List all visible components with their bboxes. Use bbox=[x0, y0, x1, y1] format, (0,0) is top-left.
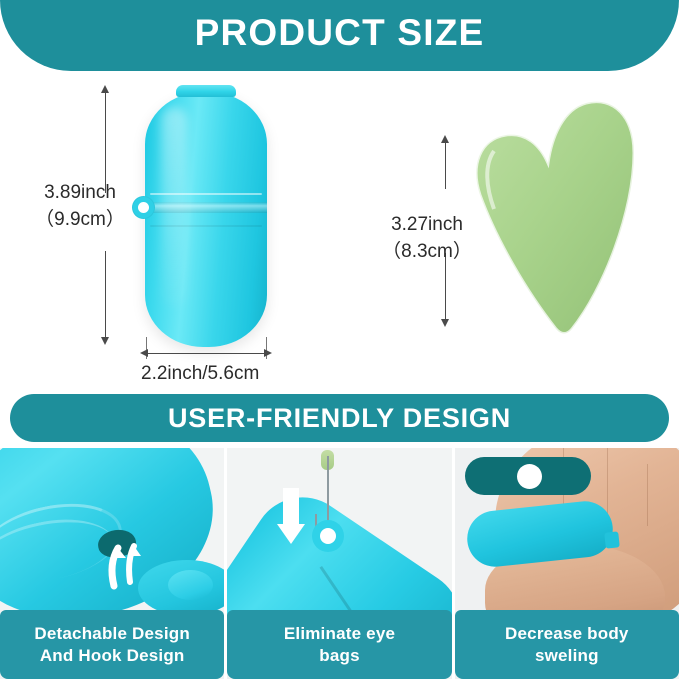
container-height-cm: （9.9cm） bbox=[24, 206, 136, 233]
feature-panel-eye-bags: Eliminate eye bags bbox=[227, 448, 451, 679]
container-height-line-upper bbox=[105, 93, 106, 193]
feature-panels: Detachable Design And Hook Design Elimin… bbox=[0, 448, 679, 679]
gua-sha-shape bbox=[468, 91, 643, 336]
detachable-lid-photo bbox=[0, 448, 224, 623]
container-height-arrow-bottom bbox=[101, 337, 109, 345]
stone-height-inch: 3.27inch bbox=[372, 211, 482, 238]
case-side-tab bbox=[604, 531, 620, 548]
feature-caption-detachable: Detachable Design And Hook Design bbox=[0, 610, 224, 679]
cyan-capsule-container-image bbox=[145, 85, 267, 347]
container-width-arrow-right bbox=[264, 349, 272, 357]
capsule-lid bbox=[176, 85, 236, 97]
feature-caption-swelling: Decrease body sweling bbox=[455, 610, 679, 679]
stone-height-arrow-bottom bbox=[441, 319, 449, 327]
stone-height-cm: （8.3cm） bbox=[372, 238, 482, 265]
down-arrow-icon bbox=[277, 524, 305, 544]
container-width-label: 2.2inch/5.6cm bbox=[141, 363, 259, 385]
container-height-line-lower bbox=[105, 251, 106, 339]
hook-hanging-photo bbox=[227, 448, 451, 623]
stone-height-arrow-top bbox=[441, 135, 449, 143]
capsule-split-seam bbox=[145, 202, 267, 213]
stone-height-label: 3.27inch （8.3cm） bbox=[372, 211, 482, 265]
product-size-section: 3.89inch （9.9cm） 2.2inch/5.6cm 3.27inch bbox=[0, 71, 679, 394]
case-center-dot bbox=[517, 464, 542, 489]
product-size-banner: PRODUCT SIZE bbox=[0, 0, 679, 71]
product-size-banner-title: PRODUCT SIZE bbox=[195, 12, 485, 54]
container-height-arrow-top bbox=[101, 85, 109, 93]
capsule-top-groove bbox=[150, 193, 262, 195]
finger-crease-3 bbox=[647, 464, 648, 526]
capsule-bottom-groove bbox=[150, 225, 262, 227]
container-height-label: 3.89inch （9.9cm） bbox=[24, 179, 136, 233]
detached-lid-knob bbox=[168, 570, 213, 600]
feature-panel-swelling: Decrease body sweling bbox=[455, 448, 679, 679]
container-width-line bbox=[148, 353, 266, 354]
stone-height-line-upper bbox=[445, 143, 446, 189]
container-height-inch: 3.89inch bbox=[24, 179, 136, 206]
finger-crease-2 bbox=[607, 448, 608, 520]
hook-stem bbox=[327, 456, 329, 522]
user-friendly-design-banner-title: USER-FRIENDLY DESIGN bbox=[168, 403, 511, 434]
user-friendly-design-banner: USER-FRIENDLY DESIGN bbox=[10, 394, 669, 442]
feature-caption-eye-bags: Eliminate eye bags bbox=[227, 610, 451, 679]
down-arrow-shaft bbox=[283, 488, 299, 526]
feature-panel-detachable: Detachable Design And Hook Design bbox=[0, 448, 224, 679]
green-gua-sha-stone-image bbox=[468, 91, 643, 336]
container-width-arrow-left bbox=[140, 349, 148, 357]
hand-holding-case-photo bbox=[455, 448, 679, 623]
